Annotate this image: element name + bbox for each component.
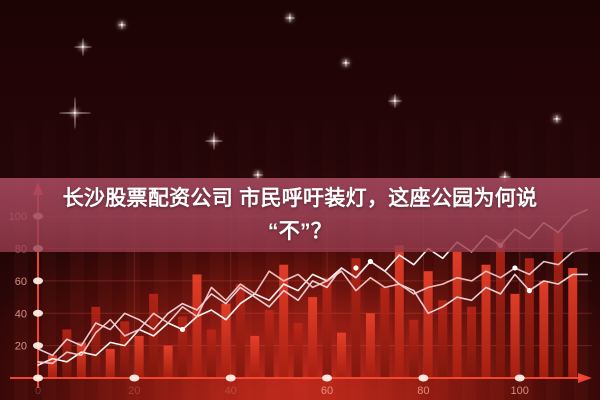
data-point xyxy=(180,327,185,332)
y-tick-label: 60 xyxy=(15,276,27,288)
x-tick-label: 100 xyxy=(511,385,529,397)
bar xyxy=(77,342,86,378)
x-tick-label: 0 xyxy=(35,385,41,397)
bar xyxy=(91,307,100,378)
bar xyxy=(496,239,505,378)
bar xyxy=(568,268,577,378)
page-title: 长沙股票配资公司 市民呼吁装灯，这座公园为何说 “不”？ xyxy=(0,182,600,248)
bar xyxy=(265,310,274,378)
bar xyxy=(323,278,332,378)
bar xyxy=(525,258,534,378)
bar xyxy=(250,336,259,378)
bar xyxy=(207,329,216,378)
x-tick-label: 40 xyxy=(225,385,237,397)
data-point xyxy=(353,265,358,270)
bar xyxy=(164,346,173,378)
bar xyxy=(308,297,317,378)
bar xyxy=(395,245,404,378)
bar xyxy=(438,300,447,378)
bar xyxy=(453,252,462,378)
bar xyxy=(135,336,144,378)
bar xyxy=(482,265,491,378)
bar xyxy=(510,294,519,378)
bar xyxy=(236,284,245,378)
y-tick-label: 20 xyxy=(15,341,27,353)
bar xyxy=(106,349,115,378)
bar xyxy=(294,323,303,378)
bar xyxy=(192,274,201,378)
bar xyxy=(467,307,476,378)
bar xyxy=(337,333,346,378)
data-point xyxy=(368,259,373,264)
bar xyxy=(539,281,548,378)
bar xyxy=(409,320,418,378)
bar xyxy=(279,265,288,378)
bar xyxy=(554,232,563,378)
bar-series xyxy=(48,232,577,378)
x-tick-label: 60 xyxy=(321,385,333,397)
screenshot-canvas: 20406080100020406080100 长沙股票配资公司 市民呼吁装灯，… xyxy=(0,0,600,400)
bar xyxy=(221,304,230,378)
bar xyxy=(366,313,375,378)
data-point xyxy=(512,265,517,270)
bar xyxy=(380,287,389,378)
y-tick-label: 40 xyxy=(15,308,27,320)
x-tick-label: 20 xyxy=(128,385,140,397)
bar xyxy=(120,321,129,378)
x-tick-label: 80 xyxy=(417,385,429,397)
data-point xyxy=(527,288,532,293)
